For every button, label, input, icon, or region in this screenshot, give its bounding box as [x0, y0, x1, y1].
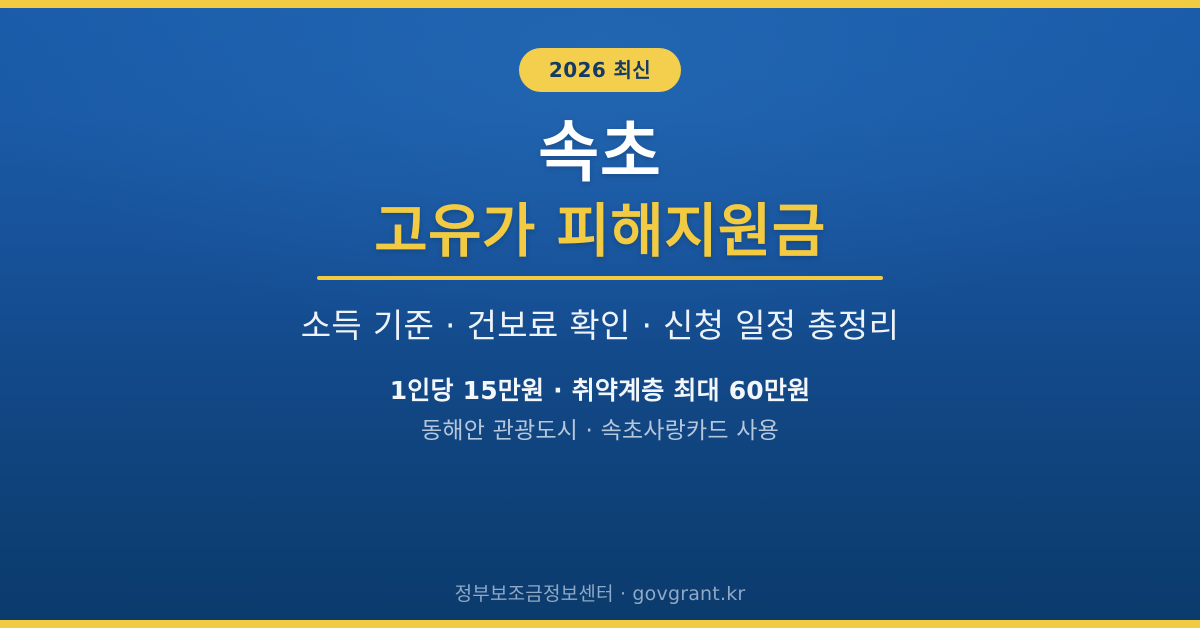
usage-note-line: 동해안 관광도시 · 속초사랑카드 사용 — [421, 418, 779, 446]
footer-attribution: 정부보조금정보센터 · govgrant.kr — [0, 579, 1200, 606]
region-title: 속초 — [538, 118, 661, 187]
program-title-group: 고유가 피해지원금 — [317, 201, 883, 280]
title-underline-rule — [317, 276, 883, 280]
bottom-accent-bar — [0, 620, 1200, 628]
year-badge-label: 2026 최신 — [549, 60, 651, 80]
poster-content: 2026 최신 속초 고유가 피해지원금 소득 기준 · 건보료 확인 · 신청… — [0, 8, 1200, 620]
poster-canvas: 2026 최신 속초 고유가 피해지원금 소득 기준 · 건보료 확인 · 신청… — [0, 0, 1200, 628]
year-badge: 2026 최신 — [519, 48, 681, 92]
lead-summary-line: 소득 기준 · 건보료 확인 · 신청 일정 총정리 — [301, 306, 899, 346]
program-title: 고유가 피해지원금 — [374, 201, 826, 262]
benefit-amount-line: 1인당 15만원 · 취약계층 최대 60만원 — [390, 376, 811, 406]
top-accent-bar — [0, 0, 1200, 8]
